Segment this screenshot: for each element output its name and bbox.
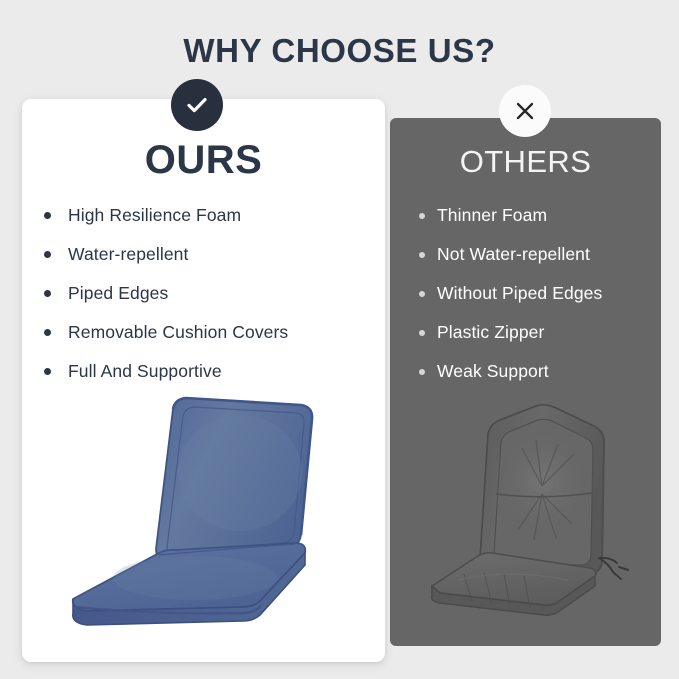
feature-label: Thinner Foam xyxy=(437,205,547,226)
list-item: Not Water-repellent xyxy=(419,235,659,274)
bullet-icon xyxy=(419,213,425,219)
others-product-image xyxy=(418,390,648,625)
list-item: Plastic Zipper xyxy=(419,313,659,352)
feature-label: Not Water-repellent xyxy=(437,244,590,265)
list-item: Thinner Foam xyxy=(419,196,659,235)
ours-feature-list: High Resilience Foam Water-repellent Pip… xyxy=(44,196,374,391)
feature-label: Removable Cushion Covers xyxy=(68,322,288,343)
feature-label: Full And Supportive xyxy=(68,361,222,382)
bullet-icon xyxy=(44,290,51,297)
bullet-icon xyxy=(419,330,425,336)
list-item: Weak Support xyxy=(419,352,659,391)
list-item: Removable Cushion Covers xyxy=(44,313,374,352)
check-badge xyxy=(171,79,223,131)
list-item: High Resilience Foam xyxy=(44,196,374,235)
bullet-icon xyxy=(419,291,425,297)
list-item: Water-repellent xyxy=(44,235,374,274)
bullet-icon xyxy=(44,329,51,336)
feature-label: High Resilience Foam xyxy=(68,205,241,226)
feature-label: Plastic Zipper xyxy=(437,322,544,343)
list-item: Full And Supportive xyxy=(44,352,374,391)
others-feature-list: Thinner Foam Not Water-repellent Without… xyxy=(419,196,659,391)
bullet-icon xyxy=(419,252,425,258)
ours-product-image xyxy=(55,385,325,630)
feature-label: Without Piped Edges xyxy=(437,283,602,304)
bullet-icon xyxy=(44,251,51,258)
feature-label: Weak Support xyxy=(437,361,549,382)
bullet-icon xyxy=(44,212,51,219)
others-heading: OTHERS xyxy=(390,143,661,181)
bullet-icon xyxy=(44,368,51,375)
feature-label: Piped Edges xyxy=(68,283,168,304)
check-icon xyxy=(184,92,210,118)
list-item: Piped Edges xyxy=(44,274,374,313)
close-badge xyxy=(499,85,551,137)
ours-heading: OURS xyxy=(22,137,385,183)
page-title: WHY CHOOSE US? xyxy=(0,31,679,71)
feature-label: Water-repellent xyxy=(68,244,188,265)
list-item: Without Piped Edges xyxy=(419,274,659,313)
bullet-icon xyxy=(419,369,425,375)
close-icon xyxy=(514,100,536,122)
